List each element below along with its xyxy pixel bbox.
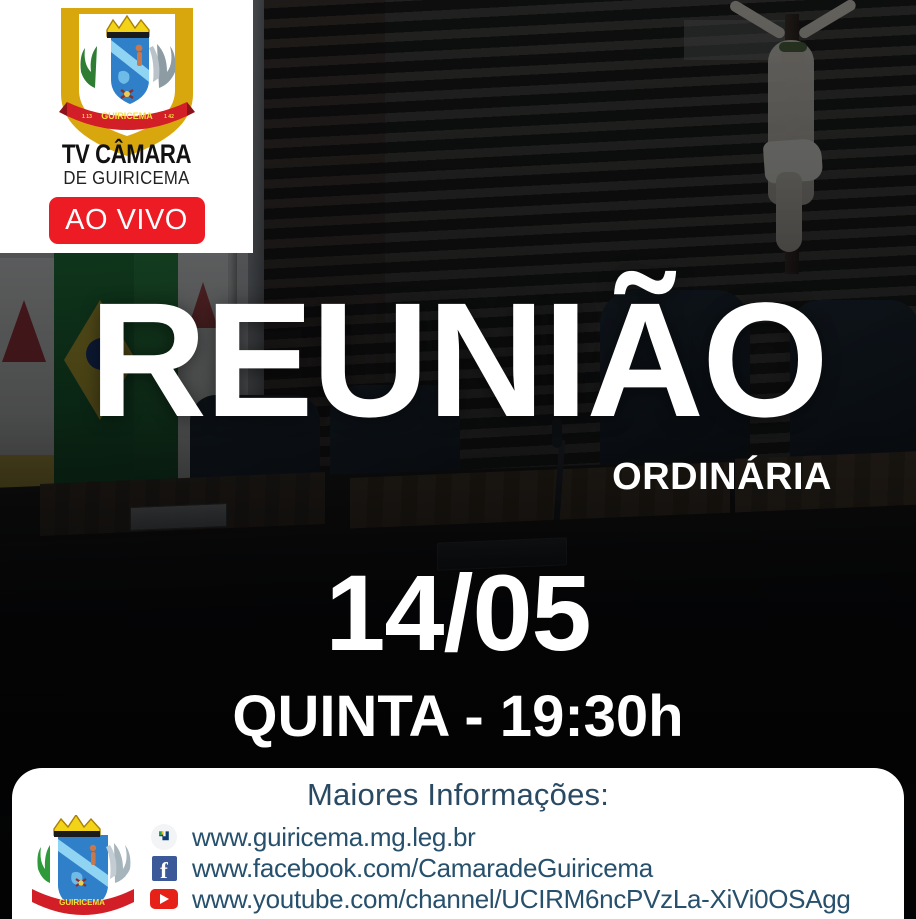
- list-item[interactable]: www.youtube.com/channel/UCIRM6ncPVzLa-Xi…: [150, 884, 851, 915]
- headline-block: REUNIÃO ORDINÁRIA: [0, 288, 916, 431]
- svg-text:GUIRICEMA: GUIRICEMA: [59, 898, 105, 907]
- live-badge: AO VIVO: [49, 197, 205, 244]
- coat-of-arms-icon: GUIRICEMA 1 13 1 42: [53, 6, 201, 158]
- list-item[interactable]: www.guiricema.mg.leg.br: [150, 822, 851, 853]
- svg-text:1 42: 1 42: [164, 114, 174, 120]
- info-panel-title: Maiores Informações:: [12, 768, 904, 813]
- contact-info-panel: Maiores Informações: GUIRICEMA: [12, 768, 904, 919]
- coat-of-arms-icon: GUIRICEMA: [30, 815, 134, 919]
- list-item[interactable]: www.facebook.com/CamaradeGuiricema: [150, 853, 851, 884]
- facebook-icon: [150, 854, 178, 882]
- website-icon: [150, 823, 178, 851]
- svg-text:GUIRICEMA: GUIRICEMA: [101, 111, 153, 121]
- event-poster: GUIRICEMA 1 13 1 42 TV CÂMARA DE GUIRICE…: [0, 0, 916, 919]
- channel-city: DE GUIRICEMA: [9, 168, 244, 189]
- tv-camara-logo-card: GUIRICEMA 1 13 1 42 TV CÂMARA DE GUIRICE…: [0, 0, 253, 253]
- meeting-type: ORDINÁRIA: [612, 456, 832, 499]
- svg-text:1 13: 1 13: [82, 114, 92, 120]
- contact-links: www.guiricema.mg.leg.br www.facebook.com…: [150, 822, 851, 915]
- page-title: REUNIÃO: [0, 288, 916, 431]
- link-label: www.facebook.com/CamaradeGuiricema: [192, 853, 653, 884]
- channel-name: TV CÂMARA: [23, 139, 230, 170]
- event-date: 14/05: [0, 550, 916, 675]
- link-label: www.youtube.com/channel/UCIRM6ncPVzLa-Xi…: [192, 884, 851, 915]
- youtube-icon: [150, 885, 178, 913]
- event-weekday-time: QUINTA - 19:30h: [0, 683, 916, 750]
- link-label: www.guiricema.mg.leg.br: [192, 822, 476, 853]
